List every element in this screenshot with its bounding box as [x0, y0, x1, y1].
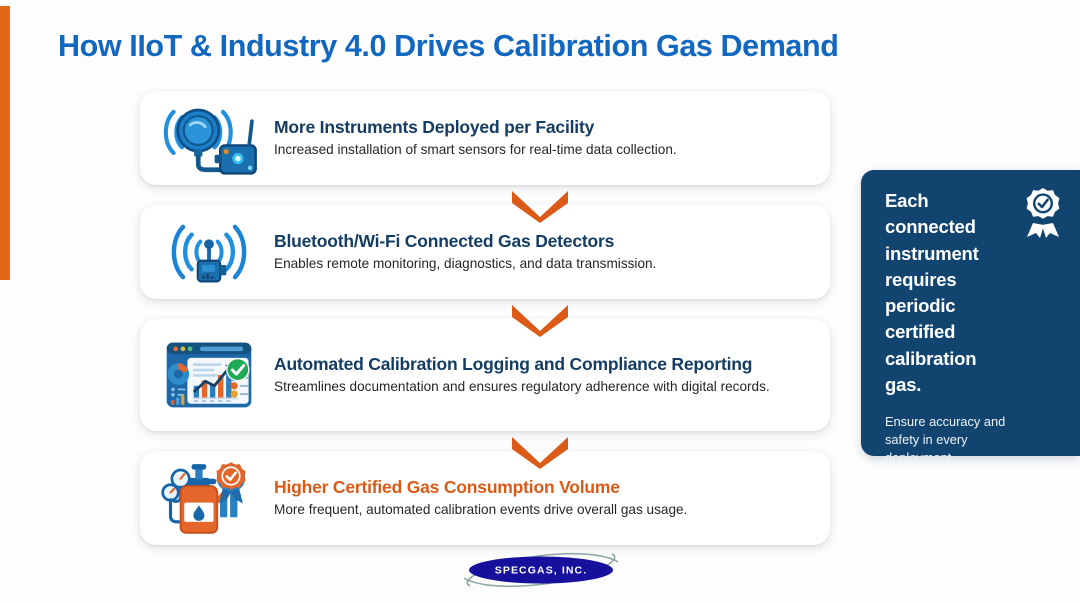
step-card-connected-detectors[interactable]: Bluetooth/Wi-Fi Connected Gas Detectors … [140, 205, 830, 299]
highlight-panel: Each connected instrument requires perio… [861, 170, 1080, 456]
step-card-description: Increased installation of smart sensors … [274, 141, 816, 159]
gas-cylinder-certification-growth-icon [150, 456, 268, 540]
highlight-panel-accent-bar [0, 6, 10, 280]
step-card-title: Higher Certified Gas Consumption Volume [274, 477, 816, 498]
step-card-more-instruments[interactable]: More Instruments Deployed per Facility I… [140, 91, 830, 185]
step-card-title: Bluetooth/Wi-Fi Connected Gas Detectors [274, 231, 816, 252]
highlight-subtext: Ensure accuracy and safety in every depl… [885, 413, 1023, 467]
analytics-dashboard-checkmark-icon [150, 333, 268, 417]
step-card-description: More frequent, automated calibration eve… [274, 501, 816, 519]
step-card-body: Higher Certified Gas Consumption Volume … [268, 477, 816, 518]
infographic-canvas: How IIoT & Industry 4.0 Drives Calibrati… [0, 0, 1080, 603]
step-card-body: Automated Calibration Logging and Compli… [268, 354, 816, 395]
chevron-down-icon [508, 187, 572, 223]
wireless-gas-detector-signal-icon [150, 210, 268, 294]
step-card-description: Enables remote monitoring, diagnostics, … [274, 255, 816, 273]
step-card-higher-consumption[interactable]: Higher Certified Gas Consumption Volume … [140, 451, 830, 545]
page-title: How IIoT & Industry 4.0 Drives Calibrati… [58, 29, 1048, 64]
step-card-title: More Instruments Deployed per Facility [274, 117, 816, 138]
highlight-heading: Each connected instrument requires perio… [885, 188, 1009, 398]
wireless-pressure-gauge-transmitter-icon [150, 96, 268, 180]
specgas-ellipse-logo: SPECGAS, INC. [452, 546, 630, 594]
step-card-title: Automated Calibration Logging and Compli… [274, 354, 816, 375]
logo-text: SPECGAS, INC. [495, 565, 587, 577]
certification-rosette-icon [1019, 187, 1067, 239]
chevron-down-icon [508, 433, 572, 469]
step-card-description: Streamlines documentation and ensures re… [274, 378, 816, 396]
step-card-automated-logging[interactable]: Automated Calibration Logging and Compli… [140, 319, 830, 431]
step-card-body: Bluetooth/Wi-Fi Connected Gas Detectors … [268, 231, 816, 272]
step-card-body: More Instruments Deployed per Facility I… [268, 117, 816, 158]
chevron-down-icon [508, 301, 572, 337]
